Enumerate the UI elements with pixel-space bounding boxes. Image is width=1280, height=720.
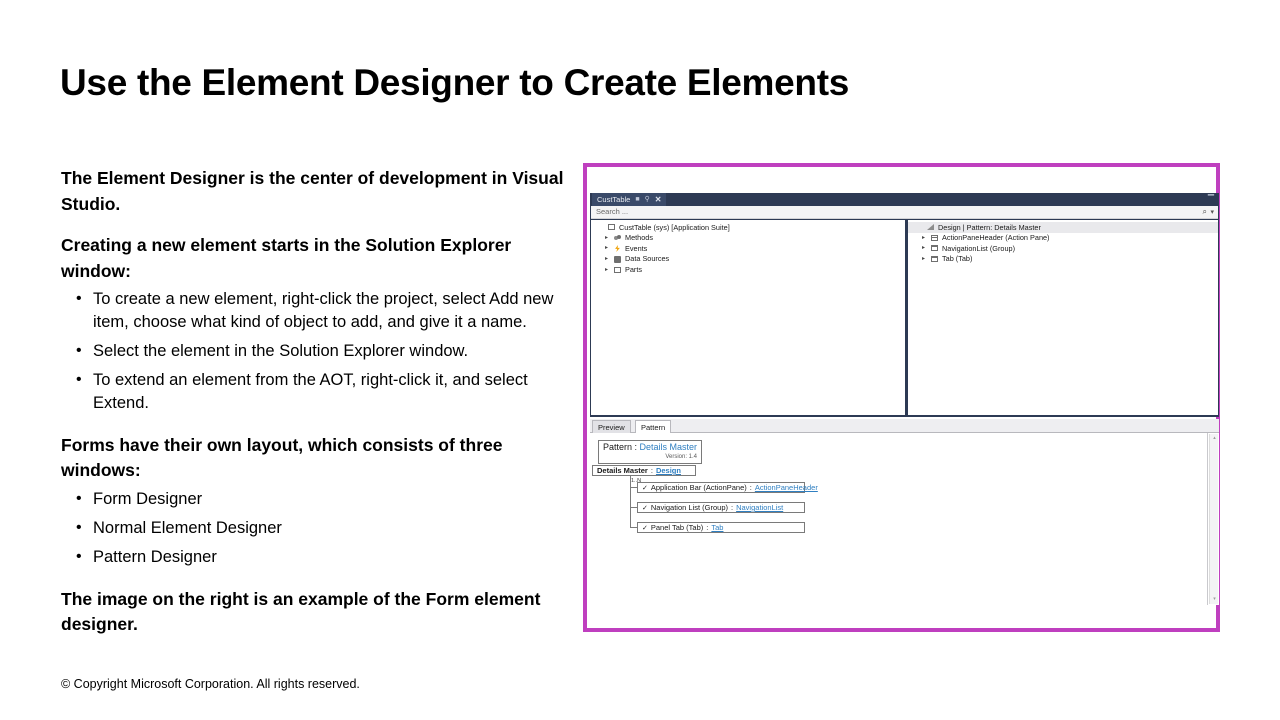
pattern-item-link[interactable]: NavigationList — [736, 503, 783, 512]
pattern-header-prefix: Pattern : — [603, 442, 640, 452]
list-item-label: Normal Element Designer — [93, 519, 282, 537]
tab-preview[interactable]: Preview — [592, 420, 631, 433]
search-input[interactable]: Search ... — [596, 208, 628, 216]
tree-row[interactable]: ▸ NavigationList (Group) — [908, 243, 1218, 254]
tree-row-label: Data Sources — [625, 255, 669, 262]
table-icon — [607, 224, 616, 230]
tree-row-label: ActionPaneHeader (Action Pane) — [942, 234, 1050, 241]
pattern-item-separator: : — [750, 483, 752, 492]
parts-icon — [613, 267, 622, 273]
list-item: • To extend an element from the AOT, rig… — [61, 369, 581, 415]
page-title: Use the Element Designer to Create Eleme… — [60, 62, 849, 104]
close-icon[interactable]: ✕ — [655, 196, 662, 204]
bullet-marker-icon: • — [76, 340, 82, 362]
pattern-item-separator: : — [706, 523, 708, 532]
tree-row[interactable]: ▸ Design | Pattern: Details Master — [908, 222, 1218, 233]
design-tree: ▸ Design | Pattern: Details Master ▸ Act… — [908, 220, 1218, 264]
design-icon — [926, 224, 935, 231]
pattern-subheader-node[interactable]: Details Master : Design — [592, 465, 696, 476]
pattern-item-row[interactable]: ✓ Panel Tab (Tab) : Tab — [637, 522, 805, 533]
pattern-subheader-separator: : — [651, 466, 653, 475]
pattern-subheader-name: Details Master — [597, 466, 648, 475]
pattern-header-node[interactable]: Pattern : Details Master Version: 1.4 — [598, 440, 702, 464]
pin-icon[interactable]: ■ — [635, 196, 639, 203]
element-tree-pane: ▸ CustTable (sys) [Application Suite] ▸ … — [591, 220, 905, 415]
expand-arrow-icon[interactable]: ▸ — [603, 267, 610, 273]
chevron-down-icon[interactable]: ▾ — [1210, 209, 1214, 216]
check-icon: ✓ — [642, 524, 648, 532]
list-item: • Normal Element Designer — [61, 517, 581, 540]
list-item-label: Select the element in the Solution Explo… — [93, 342, 468, 360]
pattern-item-row[interactable]: ✓ Application Bar (ActionPane) : ActionP… — [637, 482, 805, 493]
spacer — [61, 221, 581, 233]
tab-icon — [930, 256, 939, 262]
window-titlebar: CustTable ■ ⚲ ✕ ▔ — [590, 193, 1219, 206]
bullet-list-1: • To create a new element, right-click t… — [61, 288, 581, 415]
bullet-marker-icon: • — [76, 369, 82, 391]
pattern-scrollbar[interactable]: ▴ ▾ — [1209, 434, 1218, 604]
search-icon[interactable]: ⌕ — [1203, 208, 1207, 216]
bullet-list-2: • Form Designer • Normal Element Designe… — [61, 488, 581, 569]
pattern-header-title: Pattern : Details Master — [603, 443, 697, 453]
tree-row-label: NavigationList (Group) — [942, 245, 1015, 252]
pattern-item-separator: : — [731, 503, 733, 512]
pattern-subheader-value: Design — [656, 466, 681, 475]
pattern-item-link[interactable]: Tab — [711, 523, 723, 532]
expand-arrow-icon[interactable]: ▸ — [920, 245, 927, 251]
bullet-marker-icon: • — [76, 488, 82, 510]
list-item: • Pattern Designer — [61, 546, 581, 569]
expand-arrow-icon[interactable]: ▸ — [603, 245, 610, 251]
tree-row-label: Events — [625, 245, 647, 252]
tree-row[interactable]: ▸ Events — [591, 243, 905, 254]
tree-row-label: Parts — [625, 266, 642, 273]
float-icon[interactable]: ⚲ — [645, 196, 650, 203]
tree-row[interactable]: ▸ Parts — [591, 264, 905, 275]
pattern-canvas: Pattern : Details Master Version: 1.4 De… — [590, 433, 1208, 605]
tree-row-label: Design | Pattern: Details Master — [938, 224, 1041, 231]
screenshot-content: CustTable ■ ⚲ ✕ ▔ Search ... ⌕ ▾ ▸ CustT… — [590, 193, 1215, 605]
paragraph-2: Creating a new element starts in the Sol… — [61, 233, 581, 284]
spacer — [61, 421, 581, 433]
pattern-panel-tabstrip: Preview Pattern — [590, 419, 1219, 433]
group-icon — [930, 245, 939, 251]
paragraph-4: The image on the right is an example of … — [61, 587, 581, 638]
datasource-icon — [613, 256, 622, 263]
expand-arrow-icon[interactable]: ▸ — [603, 235, 610, 241]
visual-studio-window: CustTable ■ ⚲ ✕ ▔ Search ... ⌕ ▾ ▸ CustT… — [590, 193, 1219, 417]
pattern-item-name: Panel Tab (Tab) — [651, 523, 703, 532]
pattern-panel: Preview Pattern Pattern : Details Master… — [590, 419, 1219, 605]
copyright-footer: © Copyright Microsoft Corporation. All r… — [61, 677, 360, 691]
bullet-marker-icon: • — [76, 288, 82, 310]
pattern-item-name: Navigation List (Group) — [651, 503, 728, 512]
pattern-version: Version: 1.4 — [603, 454, 697, 460]
check-icon: ✓ — [642, 504, 648, 512]
event-icon — [613, 245, 622, 252]
list-item-label: Pattern Designer — [93, 548, 217, 566]
list-item-label: To create a new element, right-click the… — [93, 290, 553, 331]
tab-label: CustTable — [597, 196, 630, 204]
tree-row[interactable]: ▸ Tab (Tab) — [908, 254, 1218, 265]
expand-arrow-icon[interactable]: ▸ — [920, 256, 927, 262]
designer-panes: ▸ CustTable (sys) [Application Suite] ▸ … — [591, 220, 1218, 415]
tab-pattern[interactable]: Pattern — [635, 420, 671, 433]
tree-row-label: CustTable (sys) [Application Suite] — [619, 224, 730, 231]
design-tree-pane: ▸ Design | Pattern: Details Master ▸ Act… — [908, 220, 1218, 415]
pattern-header-name: Details Master — [640, 442, 698, 452]
tree-row-label: Tab (Tab) — [942, 255, 972, 262]
paragraph-1: The Element Designer is the center of de… — [61, 166, 581, 217]
paragraph-3: Forms have their own layout, which consi… — [61, 433, 581, 484]
list-item-label: To extend an element from the AOT, right… — [93, 371, 528, 412]
expand-arrow-icon[interactable]: ▸ — [920, 235, 927, 241]
list-item: • To create a new element, right-click t… — [61, 288, 581, 334]
screenshot-frame: CustTable ■ ⚲ ✕ ▔ Search ... ⌕ ▾ ▸ CustT… — [583, 163, 1220, 632]
list-item: • Form Designer — [61, 488, 581, 511]
search-bar[interactable]: Search ... ⌕ ▾ — [591, 206, 1218, 219]
check-icon: ✓ — [642, 484, 648, 492]
tree-row-label: Methods — [625, 234, 653, 241]
spacer — [61, 575, 581, 587]
element-tree: ▸ CustTable (sys) [Application Suite] ▸ … — [591, 220, 905, 275]
minimize-icon[interactable]: ▔ — [1208, 196, 1214, 204]
bullet-marker-icon: • — [76, 546, 82, 568]
slide-body-column: The Element Designer is the center of de… — [61, 166, 581, 642]
list-item: • Select the element in the Solution Exp… — [61, 340, 581, 363]
tree-row[interactable]: ▸ ActionPaneHeader (Action Pane) — [908, 233, 1218, 244]
bullet-marker-icon: • — [76, 517, 82, 539]
pattern-item-link[interactable]: ActionPaneHeader — [755, 483, 818, 492]
scroll-down-icon[interactable]: ▾ — [1211, 596, 1218, 603]
tree-row[interactable]: ▸ CustTable (sys) [Application Suite] — [591, 222, 905, 233]
scroll-up-icon[interactable]: ▴ — [1211, 435, 1218, 442]
actionpane-icon — [930, 235, 939, 241]
methods-icon — [613, 235, 622, 241]
tree-row[interactable]: ▸ Methods — [591, 233, 905, 244]
pattern-item-name: Application Bar (ActionPane) — [651, 483, 747, 492]
pattern-item-row[interactable]: ✓ Navigation List (Group) : NavigationLi… — [637, 502, 805, 513]
list-item-label: Form Designer — [93, 490, 202, 508]
expand-arrow-icon[interactable]: ▸ — [603, 256, 610, 262]
tree-row[interactable]: ▸ Data Sources — [591, 254, 905, 265]
tab-custtable[interactable]: CustTable ■ ⚲ ✕ — [592, 193, 666, 206]
